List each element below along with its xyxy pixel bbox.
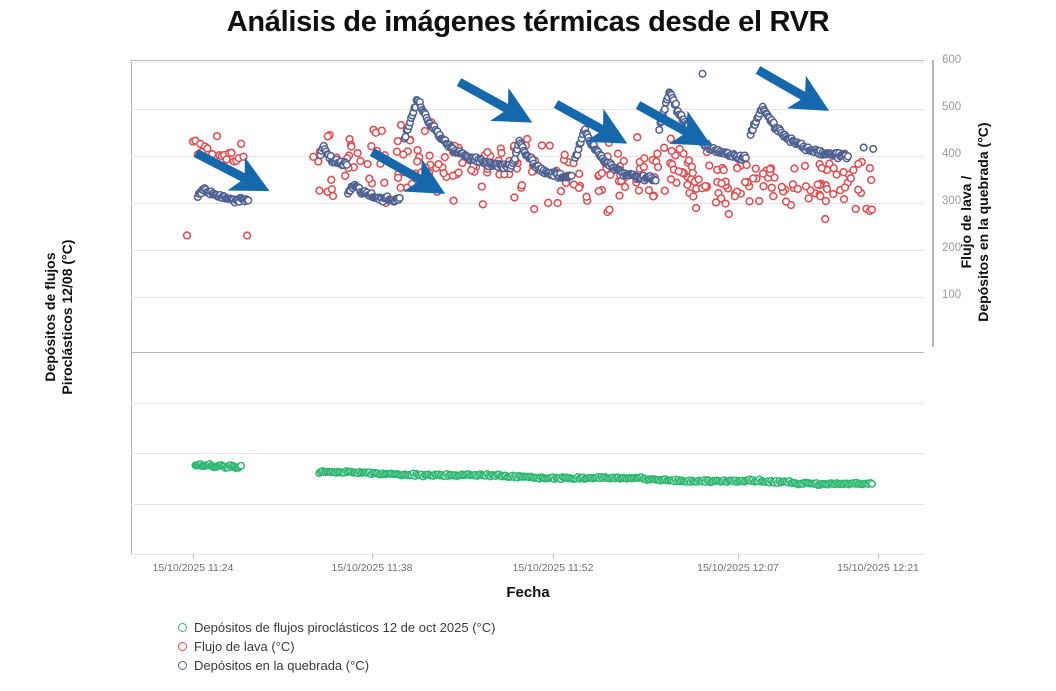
chart-title: Análisis de imágenes térmicas desde el R… bbox=[0, 6, 1056, 39]
x-axis-tick-label: 15/10/2025 11:24 bbox=[153, 562, 234, 574]
legend-marker-icon bbox=[178, 661, 187, 670]
y-axis-right-title-line2: Depósitos en la quebrada (°C) bbox=[975, 122, 991, 321]
gridline bbox=[131, 504, 924, 505]
legend-marker-icon bbox=[178, 623, 187, 632]
y-axis-right-tick-label: 600 bbox=[942, 54, 961, 66]
legend-label: Depósitos de flujos piroclásticos 12 de … bbox=[194, 620, 495, 635]
legend-marker-icon bbox=[178, 642, 187, 651]
legend-item-lava[interactable]: Flujo de lava (°C) bbox=[178, 637, 495, 656]
x-axis-tickmark bbox=[193, 554, 194, 559]
x-axis-tickmark bbox=[372, 554, 373, 559]
legend-label: Flujo de lava (°C) bbox=[194, 639, 295, 654]
gridline bbox=[131, 62, 924, 63]
x-axis-tickmark bbox=[878, 554, 879, 559]
x-axis-tickmark bbox=[553, 554, 554, 559]
gridline bbox=[131, 453, 924, 454]
x-axis-tick-label: 15/10/2025 12:21 bbox=[837, 562, 919, 574]
gridline bbox=[131, 403, 924, 404]
x-axis-tick-label: 15/10/2025 11:52 bbox=[513, 562, 594, 574]
x-axis-title: Fecha bbox=[0, 584, 1056, 601]
x-axis-tickmark bbox=[738, 554, 739, 559]
gridline bbox=[131, 203, 924, 204]
gridline bbox=[131, 250, 924, 251]
y-axis-left-title-line1: Depósitos de flujos bbox=[42, 253, 58, 382]
right-margin-mask bbox=[924, 60, 932, 350]
legend-label: Depósitos en la quebrada (°C) bbox=[194, 658, 369, 673]
gridline bbox=[131, 352, 924, 353]
x-axis-tick-label: 15/10/2025 12:07 bbox=[697, 562, 779, 574]
y-axis-left-title-line2: Piroclásticos 12/08 (°C) bbox=[59, 240, 75, 395]
gridline bbox=[131, 109, 924, 110]
y-axis-left-title: Depósitos de flujos Piroclásticos 12/08 … bbox=[42, 192, 76, 442]
chart-legend: Depósitos de flujos piroclásticos 12 de … bbox=[178, 618, 495, 675]
x-axis-tick-label: 15/10/2025 11:38 bbox=[332, 562, 413, 574]
gridline bbox=[131, 554, 924, 555]
y-axis-right-title-line1: Flujo de lava / bbox=[958, 176, 974, 269]
gridline bbox=[131, 297, 924, 298]
y-axis-right-title: Flujo de lava / Depósitos en la quebrada… bbox=[958, 92, 992, 352]
gridline bbox=[131, 156, 924, 157]
chart-root: Análisis de imágenes térmicas desde el R… bbox=[0, 0, 1056, 691]
plot-area bbox=[131, 60, 924, 555]
legend-item-quebrada[interactable]: Depósitos en la quebrada (°C) bbox=[178, 656, 495, 675]
legend-item-pyroclastic[interactable]: Depósitos de flujos piroclásticos 12 de … bbox=[178, 618, 495, 637]
